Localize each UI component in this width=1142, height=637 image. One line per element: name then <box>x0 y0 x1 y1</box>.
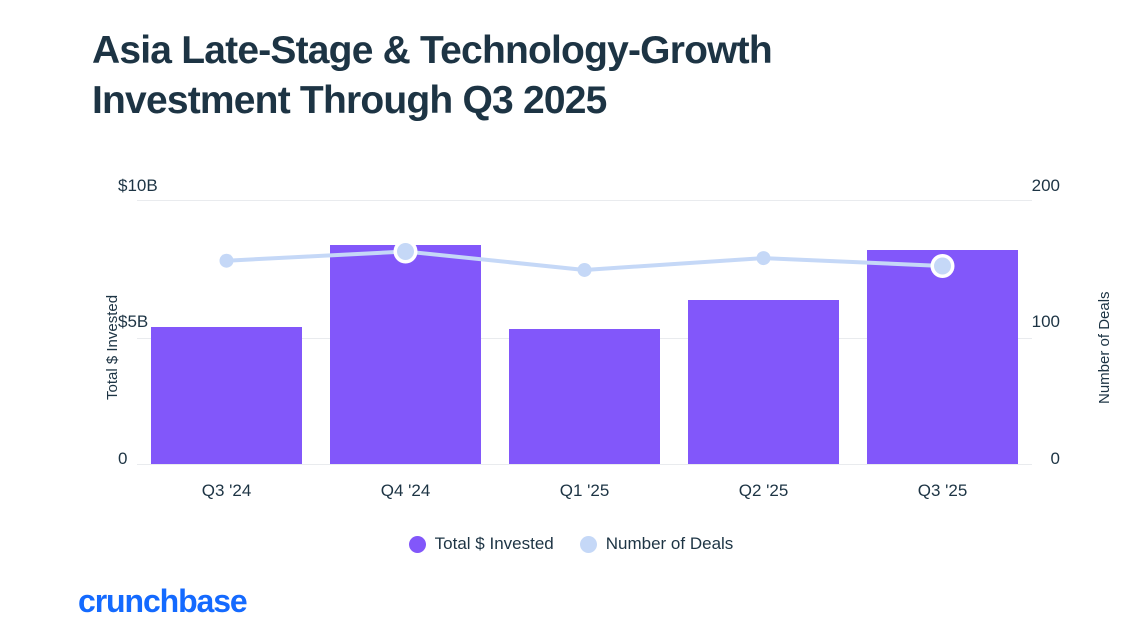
y-axis-title-right: Number of Deals <box>1096 291 1113 404</box>
y-axis-tick-right-bottom: 0 <box>1051 449 1060 469</box>
brand-logo: crunchbase <box>78 583 247 620</box>
legend: Total $ InvestedNumber of Deals <box>0 534 1142 554</box>
legend-label: Number of Deals <box>606 534 734 554</box>
gridline-baseline <box>137 464 1032 465</box>
marker-q325[interactable] <box>934 258 951 275</box>
legend-dot-icon <box>409 536 426 553</box>
y-axis-tick-right-mid: 100 <box>1032 312 1060 332</box>
marker-q225[interactable] <box>757 251 771 265</box>
x-axis-label-q325: Q3 '25 <box>853 481 1032 501</box>
y-axis-tick-right-top: 200 <box>1032 176 1060 196</box>
legend-label: Total $ Invested <box>435 534 554 554</box>
y-axis-title-left: Total $ Invested <box>104 295 121 400</box>
plot-area <box>137 200 1032 464</box>
x-axis-label-q324: Q3 '24 <box>137 481 316 501</box>
legend-dot-icon <box>580 536 597 553</box>
marker-q324[interactable] <box>220 254 234 268</box>
y-axis-tick-left-top: $10B <box>118 176 158 196</box>
legend-item-total-invested[interactable]: Total $ Invested <box>409 534 554 554</box>
page-title: Asia Late-Stage & Technology-Growth Inve… <box>92 26 1052 126</box>
x-axis-label-q125: Q1 '25 <box>495 481 674 501</box>
x-axis-label-q225: Q2 '25 <box>674 481 853 501</box>
legend-item-number-of-deals[interactable]: Number of Deals <box>580 534 734 554</box>
y-axis-tick-left-bottom: 0 <box>118 449 127 469</box>
x-axis-label-q424: Q4 '24 <box>316 481 495 501</box>
marker-q125[interactable] <box>578 263 592 277</box>
marker-q424[interactable] <box>397 243 414 260</box>
line-series <box>137 200 1032 464</box>
chart-page: Asia Late-Stage & Technology-Growth Inve… <box>0 0 1142 637</box>
